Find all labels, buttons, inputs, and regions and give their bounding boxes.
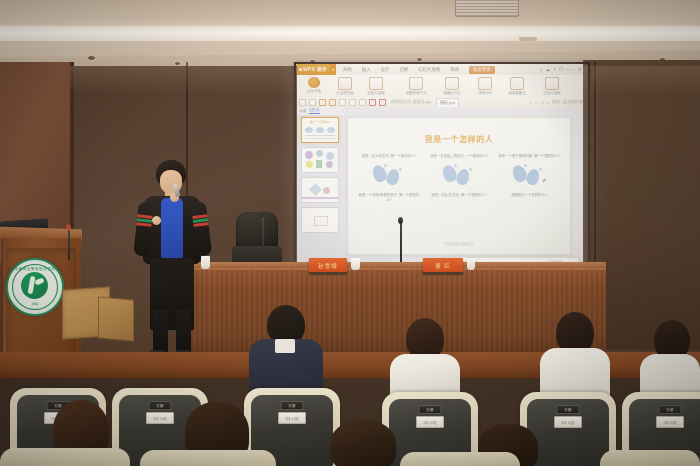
speaker-person: [128, 160, 220, 365]
chair-brand-tag: 天朗: [557, 405, 580, 414]
ribbon-cmd-from-current[interactable]: 从当前开始: [330, 77, 360, 96]
speaker-left-leg: [153, 310, 168, 354]
slide-thumbnail-4[interactable]: [301, 207, 339, 233]
audience-member: [540, 312, 610, 394]
cloud-icon[interactable]: ☁: [546, 67, 551, 73]
projector-icon: [545, 77, 559, 90]
wps-title-bar: WPS 演示 ▾ 开始 插入 设计 切换 幻灯片放映 审阅 会员专享 ⌕ ☁ ?…: [297, 64, 583, 75]
chair-brand-tag: 天朗: [659, 405, 682, 414]
minimize-icon[interactable]: —: [566, 67, 571, 72]
institution-logo: 河南司法警官职业学院 1982: [6, 258, 64, 316]
export-pdf-icon[interactable]: [339, 99, 346, 106]
ribbon-tab-start[interactable]: 开始: [343, 67, 352, 73]
restore-icon[interactable]: ❐: [559, 67, 563, 73]
auditorium-chair-edge[interactable]: [400, 452, 520, 466]
speaker-left-hand: [152, 216, 161, 225]
maximize-icon[interactable]: ▫: [574, 67, 576, 72]
desk-microphone-head: [260, 210, 265, 217]
ribbon-cmd-custom-show[interactable]: 自定义放映: [361, 77, 391, 96]
play-circle-icon: [308, 77, 320, 88]
audience-member: [390, 318, 460, 396]
monitor-icon: [338, 77, 352, 90]
slide-col3-top-text: 我是一个班干部的时候, 第一个想到的人?: [498, 154, 560, 159]
nameplate-left: 赵雪娥: [309, 258, 347, 273]
seat-number-plate: 3排 14座: [278, 412, 306, 424]
podium-microphone-head: [66, 224, 71, 231]
save-icon[interactable]: [299, 99, 306, 106]
slide-col2-bottom-text: 我是一名队员/队长, 第一个想到的人?: [428, 193, 490, 198]
open-file-tab-2[interactable]: 模板.ppt: [436, 98, 459, 107]
speaker-shirt: [161, 198, 183, 260]
footprints-icon: [512, 164, 546, 190]
quick-access-right: + ⌂ ↗ ⌕ 协作 云文档列表: [530, 97, 583, 107]
paper-cup: [351, 258, 360, 270]
person-head: [330, 420, 396, 466]
slide-thumbnail-1[interactable]: 我是一个怎样的人: [301, 117, 339, 143]
nameplate-right: 董 红: [423, 258, 463, 273]
footprints-icon: [442, 164, 476, 190]
wps-icon[interactable]: [369, 99, 376, 106]
desk-microphone-head: [398, 217, 403, 224]
window-system-buttons: ⌕ ☁ ? ❐ — ▫ ✕: [540, 64, 582, 75]
chair-brand-tag: 天朗: [419, 405, 442, 414]
ribbon-cmd-presenter-notes[interactable]: 演讲者备注: [502, 77, 532, 96]
seat-number-plate: 3排 13座: [146, 412, 174, 424]
ceiling-spotlight-icon: [417, 58, 422, 61]
ribbon-cmd-hide-slide[interactable]: 隐藏幻灯片: [437, 77, 467, 96]
chevron-down-icon[interactable]: ▾: [330, 64, 336, 75]
share-icon[interactable]: ↗: [540, 100, 543, 105]
lock-icon[interactable]: ⌂: [535, 100, 537, 105]
ribbon-cmd-slideshow[interactable]: 幻灯片放映: [537, 77, 567, 96]
hide-slide-icon: [445, 77, 459, 90]
slide-col1-top-text: 我是一名大学生时, 第一个想到的人?: [358, 154, 420, 159]
nameplate-right-base: [423, 272, 463, 275]
layout-icon: [409, 77, 423, 90]
ribbon-tab-review[interactable]: 审阅: [450, 67, 459, 73]
wps-ribbon-tabs: 开始 插入 设计 切换 幻灯片放映 审阅 会员专享: [343, 64, 495, 75]
ribbon-tab-transition[interactable]: 切换: [399, 67, 408, 73]
slide-column-1: 我是一名大学生时, 第一个想到的人? 我是一个妈妈/爸爸的孩子, 第一个想到的人…: [358, 154, 420, 203]
ribbon-tab-insert[interactable]: 插入: [362, 67, 371, 73]
slide-footer: 学会自我认知和定位: [348, 241, 570, 246]
search-icon[interactable]: ⌕: [547, 100, 549, 105]
slide-col1-bottom-text: 我是一个妈妈/爸爸的孩子, 第一个想到的人?: [358, 193, 420, 203]
close-icon[interactable]: ✕: [578, 67, 582, 73]
ribbon-cmd-setup-show[interactable]: 设置放映方式: [401, 77, 431, 96]
open-file-tab-1[interactable]: 优秀班主任-张国月.ppt: [391, 99, 431, 105]
slides-tab[interactable]: 幻灯片: [309, 108, 320, 114]
projection-screen: WPS 演示 ▾ 开始 插入 设计 切换 幻灯片放映 审阅 会员专享 ⌕ ☁ ?…: [297, 64, 583, 280]
slide-column-2: 我是一名班级上的班长, 一个想到的人? 我是一名队员/队长, 第一个想到的人?: [428, 154, 490, 198]
slide-title: 我是一个怎样的人: [348, 134, 570, 145]
print-icon[interactable]: [309, 99, 316, 106]
record-icon: [510, 77, 524, 90]
ribbon-tab-slideshow[interactable]: 幻灯片放映: [418, 67, 440, 73]
logo-emblem-icon: [21, 272, 48, 299]
speaker-right-leg: [176, 310, 191, 354]
nameplate-left-base: [309, 272, 347, 275]
ceiling-downlight-strip: [519, 37, 537, 41]
slide-thumbnail-2[interactable]: [301, 147, 339, 173]
pdf-icon[interactable]: [379, 99, 386, 106]
timer-icon: [478, 77, 492, 90]
chevron-left-icon[interactable]: ‹: [342, 109, 345, 113]
auditorium-chair-edge[interactable]: [0, 448, 130, 466]
auditorium-chair-edge[interactable]: [600, 450, 700, 466]
slide-canvas[interactable]: 我是一个怎样的人 我是一名大学生时, 第一个想到的人? 我是一个妈妈/爸爸的孩子…: [347, 117, 571, 255]
ribbon-cmd-rehearse[interactable]: 排练计时: [470, 77, 500, 96]
undo-icon[interactable]: [349, 99, 356, 106]
seat-number-plate: 4排 08座: [656, 416, 684, 428]
ceiling-spotlight-icon: [175, 62, 180, 65]
redo-icon[interactable]: [359, 99, 366, 106]
slide-thumbnail-pane[interactable]: 我是一个怎样的人: [297, 115, 343, 280]
cloud-doc-list-label[interactable]: 云文档列表: [563, 99, 583, 105]
audience-member: [640, 320, 700, 396]
audience-member: [249, 305, 323, 391]
ribbon-tab-member[interactable]: 会员专享: [469, 66, 495, 74]
slide-column-3: 我是一个班干部的时候, 第一个想到的人? 我想成为一个怎样的人?: [498, 154, 560, 198]
eyeglasses-icon: [542, 322, 554, 329]
ceiling-light-cove: [0, 26, 700, 41]
footprints-icon: [372, 164, 406, 190]
lecture-hall-photo: WPS 演示 ▾ 开始 插入 设计 切换 幻灯片放映 审阅 会员专享 ⌕ ☁ ?…: [0, 0, 700, 466]
add-tab-icon[interactable]: +: [530, 100, 532, 105]
slide-col2-top-text: 我是一名班级上的班长, 一个想到的人?: [428, 154, 490, 159]
wps-ribbon: 从头开始 从当前开始 自定义放映 设置放映方式 隐藏幻灯片 排练计时: [297, 75, 583, 98]
search-icon[interactable]: ⌕: [540, 67, 543, 72]
wps-app-logo[interactable]: WPS 演示: [297, 64, 330, 75]
collab-label[interactable]: 协作: [552, 99, 560, 105]
audience-member-front: [330, 420, 396, 466]
ribbon-tab-design[interactable]: 设计: [381, 67, 390, 73]
preview-icon[interactable]: [319, 99, 326, 106]
slide-thumbnail-3[interactable]: [301, 177, 339, 203]
chair-brand-tag: 天朗: [281, 401, 304, 410]
auditorium-chair-edge[interactable]: [140, 450, 276, 466]
screen-icon: [369, 77, 383, 90]
seat-number-plate: 3排 15座: [416, 416, 444, 428]
cloud-sync-icon[interactable]: [329, 99, 336, 106]
outline-tab[interactable]: 大纲: [299, 109, 306, 114]
wps-work-area: 大纲 幻灯片 ‹ 我是一个怎样的人: [297, 107, 583, 280]
ceiling-spotlight-icon: [88, 56, 95, 60]
slide-col3-bottom-text: 我想成为一个怎样的人?: [498, 193, 560, 198]
chair-brand-tag: 天朗: [149, 401, 172, 410]
help-icon[interactable]: ?: [553, 67, 556, 72]
ribbon-cmd-from-start[interactable]: 从头开始: [299, 77, 329, 94]
ceiling-air-vent-icon: [455, 0, 519, 17]
person-collar: [275, 339, 295, 353]
podium-microphone-stem: [68, 228, 70, 260]
wps-app-name: WPS 演示: [303, 66, 327, 73]
seat-number-plate: 3排 16座: [554, 416, 582, 428]
desk-microphone-stem: [400, 222, 402, 266]
paper-cup: [467, 259, 475, 270]
desk-microphone-stem: [262, 215, 264, 267]
logo-year: 1982: [8, 302, 62, 306]
thumbnail-title: 我是一个怎样的人: [302, 120, 338, 124]
